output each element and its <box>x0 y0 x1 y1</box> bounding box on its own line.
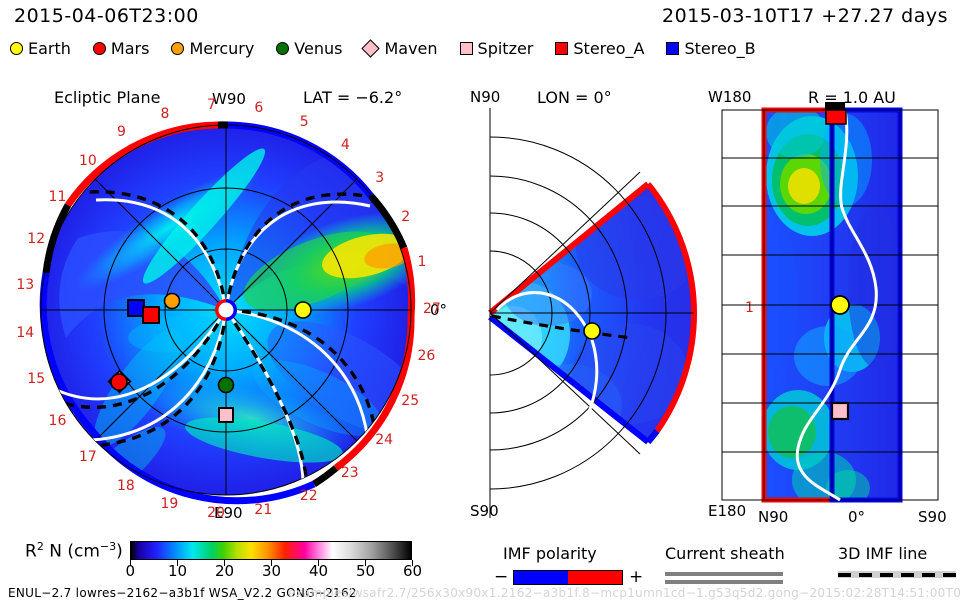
colorbar-label-r: R <box>25 542 37 562</box>
day-tick-label: 8 <box>160 106 169 122</box>
day-tick-label: 5 <box>300 114 309 130</box>
colorbar-tick-label: 30 <box>262 562 281 580</box>
legend-label: Stereo_B <box>684 39 755 58</box>
square-marker-icon <box>555 42 568 55</box>
legend-item-maven: Maven <box>364 39 437 58</box>
square-marker-icon <box>666 42 679 55</box>
day-tick-label: 15 <box>27 371 45 387</box>
day-tick-label: 14 <box>16 325 34 341</box>
day-tick-label: 16 <box>49 413 67 429</box>
timestamp-current: 2015-04-06T23:00 <box>14 5 199 27</box>
circle-marker-icon <box>93 42 106 55</box>
body-stereo-a <box>143 307 159 323</box>
au-map-svg <box>700 88 958 528</box>
square-marker-icon <box>460 42 473 55</box>
imf-plus-sign: + <box>629 567 643 587</box>
colorbar-tick-label: 60 <box>403 562 422 580</box>
sun-marker <box>215 299 237 321</box>
day-tick-label: 2 <box>401 209 410 225</box>
current-sheath-line-upper <box>665 572 783 576</box>
panel-ecliptic-plane: Ecliptic Plane LAT = −6.2° W90 E90 0° <box>18 88 448 528</box>
imf-3d-line-dash <box>838 573 956 577</box>
day-tick-label: 19 <box>160 496 178 512</box>
legend-label: Mercury <box>189 39 254 58</box>
colorbar-label-exp: 2 <box>37 540 44 553</box>
day-tick-label: 13 <box>16 277 34 293</box>
colorbar-gradient <box>130 541 412 560</box>
imf-3d-title: 3D IMF line <box>838 544 927 563</box>
circle-marker-icon <box>276 42 289 55</box>
day-tick-label: 25 <box>401 393 419 409</box>
body-earth <box>584 323 600 339</box>
colorbar-tick-label: 10 <box>168 562 187 580</box>
body-earth <box>295 302 311 318</box>
day-tick-label: 18 <box>117 478 135 494</box>
meridional-plot-svg <box>452 88 702 528</box>
body-earth <box>831 296 849 314</box>
colorbar-tick-label: 40 <box>309 562 328 580</box>
colorbar-label-paren: ) <box>116 542 123 562</box>
colorbar-label-n: N (cm <box>44 542 100 562</box>
diamond-marker-icon <box>362 39 380 57</box>
current-sheath-title: Current sheath <box>665 544 785 563</box>
body-venus <box>219 378 234 393</box>
current-sheath-line-lower <box>665 580 783 584</box>
day-tick-label: 20 <box>207 505 225 521</box>
colorbar-tick-label: 0 <box>126 562 136 580</box>
day-tick-label: 1 <box>418 254 427 270</box>
imf-polarity-bar <box>513 570 623 585</box>
day-tick-label: 26 <box>418 348 436 364</box>
legend-label: Mars <box>111 39 150 58</box>
day-tick-label: 11 <box>49 189 67 205</box>
density-field <box>41 125 448 520</box>
legend-label: Venus <box>294 39 342 58</box>
day-tick-label: 3 <box>375 170 384 186</box>
legend-label: Spitzer <box>478 39 534 58</box>
colorbar-tick-label: 20 <box>215 562 234 580</box>
day-tick-label: 10 <box>79 153 97 169</box>
body-mars <box>111 374 127 390</box>
colorbar-label-exp2: −3 <box>100 540 116 553</box>
legend-item-mercury: Mercury <box>171 39 254 58</box>
day-tick-label: 12 <box>27 231 45 247</box>
body-mercury <box>165 294 180 309</box>
footer-path-watermark: examples/wsafr2.7/256x30x90x1.2162−a3b1f… <box>288 586 960 600</box>
body-spitzer <box>832 403 848 419</box>
day-tick-label: 24 <box>375 432 393 448</box>
circle-marker-icon <box>10 42 23 55</box>
legend-item-venus: Venus <box>276 39 342 58</box>
body-spitzer <box>219 408 233 422</box>
legend-item-stereo-b: Stereo_B <box>666 39 755 58</box>
day-tick-label: 22 <box>300 488 318 504</box>
panel-constant-radius: W180 R = 1.0 AU E180 1 N90 0° S90 <box>700 88 958 528</box>
panel-meridional: N90 LON = 0° S90 0° <box>452 88 702 528</box>
day-tick-label: 27 <box>423 301 441 317</box>
imf-minus-sign: − <box>494 567 508 587</box>
day-tick-label: 4 <box>341 137 350 153</box>
day-tick-label: 21 <box>254 502 272 518</box>
legend-label: Stereo_A <box>573 39 644 58</box>
legend-label: Earth <box>28 39 71 58</box>
body-legend: Earth Mars Mercury Venus Maven Spitzer S… <box>10 36 950 60</box>
colorbar-tick-label: 50 <box>356 562 375 580</box>
day-tick-label: 9 <box>117 124 126 140</box>
legend-item-mars: Mars <box>93 39 150 58</box>
legend-item-earth: Earth <box>10 39 71 58</box>
day-tick-label: 23 <box>341 465 359 481</box>
legend-item-stereo-a: Stereo_A <box>555 39 644 58</box>
day-tick-label: 6 <box>254 100 263 116</box>
legend-item-spitzer: Spitzer <box>460 39 534 58</box>
legend-label: Maven <box>384 39 437 58</box>
imf-polarity-title: IMF polarity <box>503 544 597 563</box>
body-stereo-b <box>128 300 144 316</box>
timestamp-run: 2015-03-10T17 +27.27 days <box>662 5 948 27</box>
polar-grid <box>490 108 694 518</box>
colorbar-label: R2 N (cm−3) <box>25 540 123 562</box>
body-stereo-a <box>826 110 846 124</box>
circle-marker-icon <box>171 42 184 55</box>
day-tick-label: 17 <box>79 449 97 465</box>
day-tick-label: 7 <box>207 97 216 113</box>
